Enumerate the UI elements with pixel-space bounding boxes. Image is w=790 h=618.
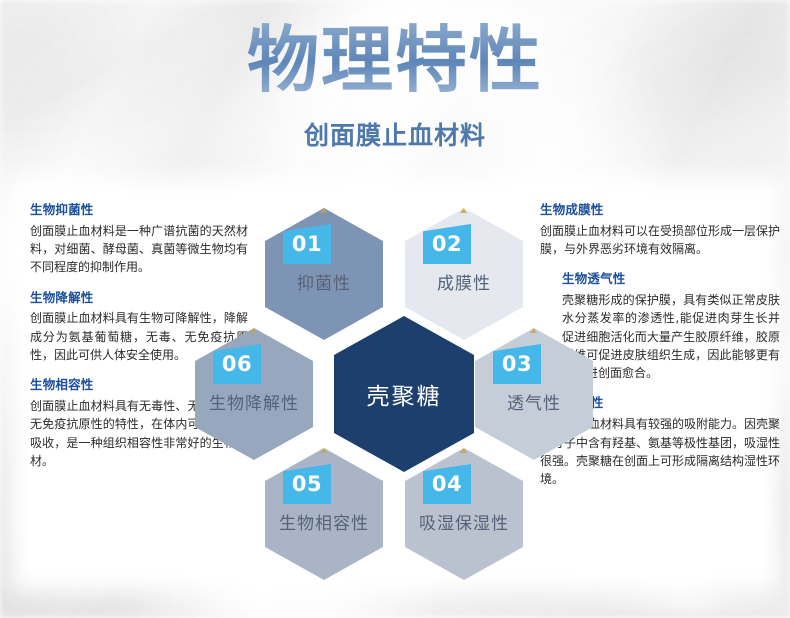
apex-marker-icon — [530, 328, 537, 333]
infographic-canvas: 物理特性 创面膜止血材料 生物抑菌性 创面膜止血材料是一种广谱抗菌的天然材料，对… — [0, 0, 790, 618]
hexagon-label: 透气性 — [507, 389, 561, 414]
page-title: 物理特性 — [0, 0, 790, 100]
text-block-film-forming: 生物成膜性 创面膜止血材料可以在受损部位形成一层保护膜，与外界恶劣环境有效隔离。 — [540, 202, 780, 258]
header: 物理特性 创面膜止血材料 — [0, 0, 790, 152]
hexagon-04-moisture[interactable]: 吸湿保湿性 04 — [405, 448, 523, 580]
block-heading: 生物透气性 — [562, 271, 780, 288]
hexagon-02-film-forming[interactable]: 成膜性 02 — [405, 208, 523, 340]
apex-marker-icon — [460, 208, 467, 213]
block-heading: 生物成膜性 — [540, 202, 780, 219]
block-heading: 生物降解性 — [30, 290, 248, 307]
block-body: 创面膜止血材料可以在受损部位形成一层保护膜，与外界恶劣环境有效隔离。 — [540, 222, 780, 258]
hexagon-label: 吸湿保湿性 — [419, 509, 509, 534]
hexagon-label: 生物降解性 — [209, 389, 299, 414]
hexagon-05-biocompatible[interactable]: 生物相容性 05 — [265, 448, 383, 580]
hexagon-cluster: 生物降解性 06 抑菌性 01 成膜性 02 透气性 03 吸湿保湿性 04 生… — [243, 196, 563, 576]
apex-marker-icon — [320, 208, 327, 213]
hexagon-number-badge: 05 — [283, 464, 331, 504]
block-heading: 生物抑菌性 — [30, 202, 248, 219]
hexagon-label: 抑菌性 — [297, 269, 351, 294]
hexagon-label: 成膜性 — [437, 269, 491, 294]
text-block-antibacterial: 生物抑菌性 创面膜止血材料是一种广谱抗菌的天然材料，对细菌、酵母菌、真菌等微生物… — [30, 202, 248, 277]
hexagon-number-badge: 03 — [493, 344, 541, 384]
apex-marker-icon — [460, 448, 467, 453]
apex-marker-icon — [250, 328, 257, 333]
page-subtitle: 创面膜止血材料 — [0, 100, 790, 152]
hexagon-center-chitosan[interactable]: 壳聚糖 — [334, 316, 474, 472]
hexagon-number-badge: 02 — [423, 224, 471, 264]
apex-marker-icon — [320, 448, 327, 453]
block-body: 壳聚糖形成的保护膜，具有类似正常皮肤水分蒸发率的渗透性,能促进肉芽生长并促进细胞… — [562, 291, 780, 382]
hexagon-label: 生物相容性 — [279, 509, 369, 534]
hexagon-number-badge: 06 — [213, 344, 261, 384]
hexagon-number-badge: 04 — [423, 464, 471, 504]
block-body: 创面膜止血材料是一种广谱抗菌的天然材料，对细菌、酵母菌、真菌等微生物均有不同程度… — [30, 222, 248, 277]
hexagon-center-label: 壳聚糖 — [367, 377, 442, 411]
hexagon-01-antibacterial[interactable]: 抑菌性 01 — [265, 208, 383, 340]
right-text-column: 生物成膜性 创面膜止血材料可以在受损部位形成一层保护膜，与外界恶劣环境有效隔离。… — [540, 202, 780, 488]
hexagon-number-badge: 01 — [283, 224, 331, 264]
